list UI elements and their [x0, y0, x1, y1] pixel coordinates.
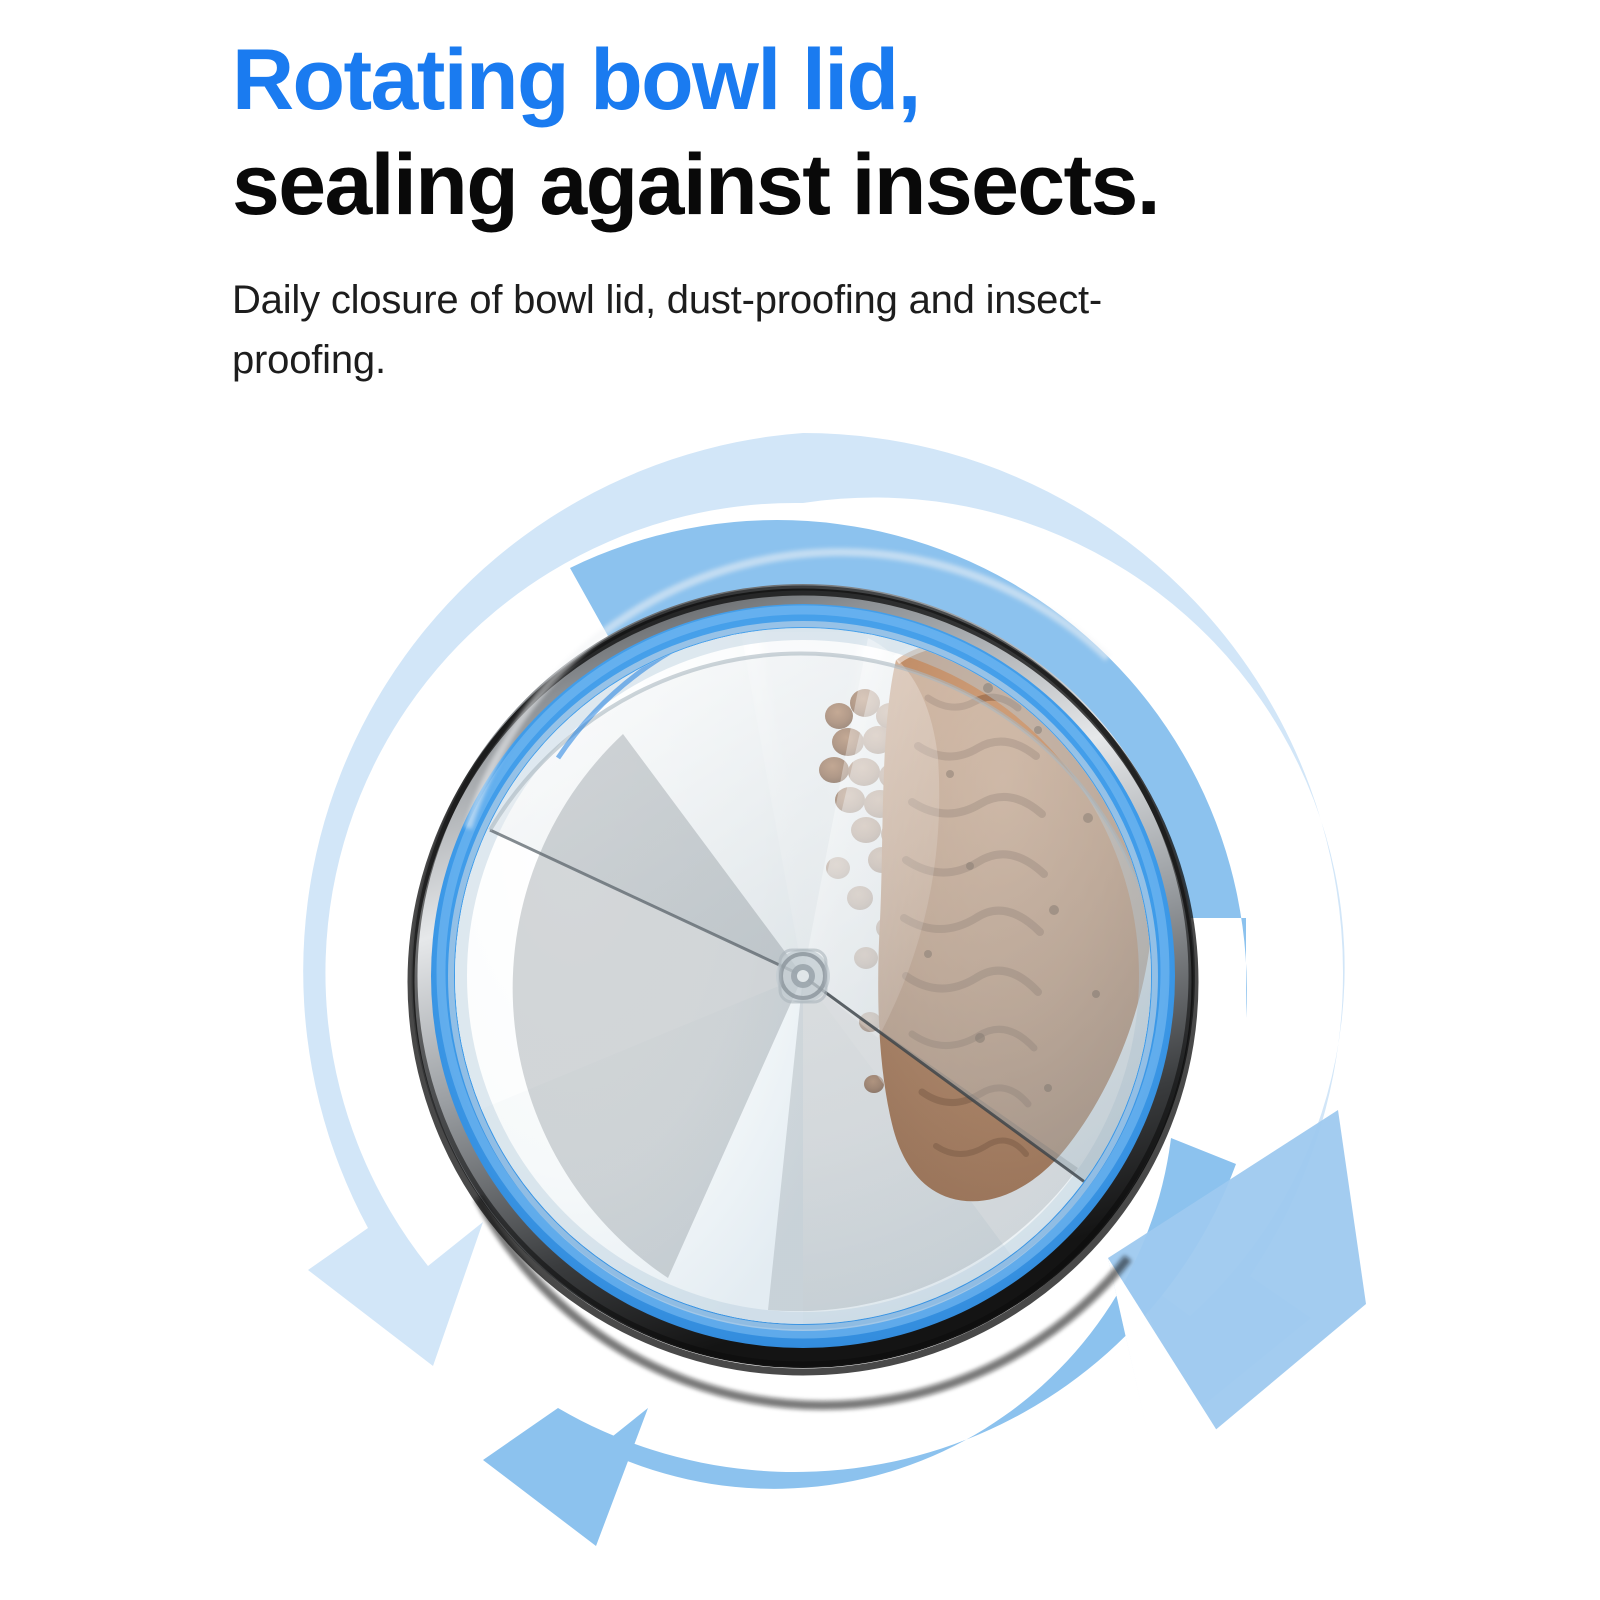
headline-line-1: Rotating bowl lid,: [232, 28, 1352, 133]
lid-center-knob[interactable]: [776, 949, 830, 1003]
headline-line-2: sealing against insects.: [232, 133, 1352, 238]
rotating-bowl-lid-illustration: [228, 398, 1378, 1548]
hero-text-block: Rotating bowl lid, sealing against insec…: [232, 28, 1352, 390]
page-subtitle: Daily closure of bowl lid, dust-proofing…: [232, 238, 1192, 390]
page-title: Rotating bowl lid, sealing against insec…: [232, 28, 1352, 238]
